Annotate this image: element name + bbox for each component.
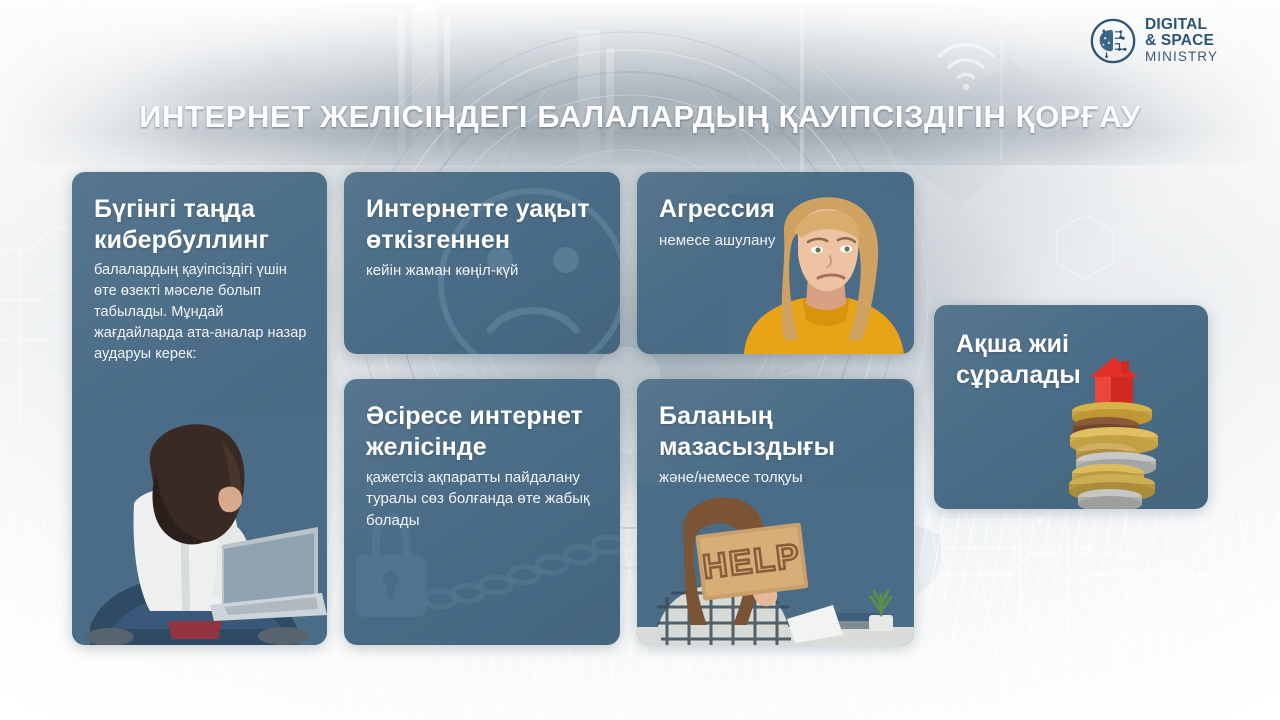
brain-circuit-icon	[1090, 18, 1136, 64]
logo-line-3: MINISTRY	[1145, 50, 1218, 64]
card-cyberbullying-text: Бүгінгі таңда кибербуллинг балалардың қа…	[72, 172, 327, 364]
card-anxiety-text: Баланың мазасыздығы және/немесе толқуы	[637, 379, 914, 488]
card-privacy-heading: Әсіресе интернет желісінде	[366, 401, 600, 462]
card-privacy-text: Әсіресе интернет желісінде қажетсіз ақпа…	[344, 379, 620, 531]
card-privacy[interactable]: Әсіресе интернет желісінде қажетсіз ақпа…	[344, 379, 620, 645]
card-bad-mood-text: Интернетте уақыт өткізгеннен кейін жаман…	[344, 172, 620, 281]
card-cyberbullying[interactable]: Бүгінгі таңда кибербуллинг балалардың қа…	[72, 172, 327, 645]
card-money[interactable]: Ақша жиі сұралады	[934, 305, 1208, 509]
logo-line-2: & SPACE	[1145, 33, 1218, 49]
card-cyberbullying-body: балалардың қауіпсіздігі үшін өте өзекті …	[94, 260, 307, 364]
card-aggression[interactable]: Агрессия немесе ашулану	[637, 172, 914, 354]
card-anxiety-body: және/немесе толқуы	[659, 467, 894, 488]
card-bad-mood[interactable]: Интернетте уақыт өткізгеннен кейін жаман…	[344, 172, 620, 354]
card-anxiety[interactable]: HELP Баланың мазасыздығы және/немесе тол…	[637, 379, 914, 645]
ministry-logo[interactable]: DIGITAL & SPACE MINISTRY	[1090, 17, 1218, 64]
girl-with-laptop-distressed-photo	[72, 415, 327, 645]
card-anxiety-heading: Баланың мазасыздығы	[659, 401, 894, 462]
card-money-text: Ақша жиі сұралады	[934, 305, 1208, 390]
card-bad-mood-heading: Интернетте уақыт өткізгеннен	[366, 194, 600, 255]
girl-holding-help-sign-photo: HELP	[637, 485, 914, 645]
card-privacy-body: қажетсіз ақпаратты пайдалану туралы сөз …	[366, 467, 600, 531]
card-aggression-body: немесе ашулану	[659, 230, 894, 251]
card-bad-mood-body: кейін жаман көңіл-күй	[366, 260, 600, 281]
card-cyberbullying-heading: Бүгінгі таңда кибербуллинг	[94, 194, 307, 255]
card-aggression-heading: Агрессия	[659, 194, 894, 225]
card-aggression-text: Агрессия немесе ашулану	[637, 172, 914, 251]
card-money-heading: Ақша жиі сұралады	[956, 329, 1188, 390]
logo-wordmark: DIGITAL & SPACE MINISTRY	[1145, 17, 1218, 64]
logo-line-1: DIGITAL	[1145, 17, 1218, 33]
page-title: ИНТЕРНЕТ ЖЕЛІСІНДЕГІ БАЛАЛАРДЫҢ ҚАУІПСІЗ…	[0, 99, 1280, 135]
